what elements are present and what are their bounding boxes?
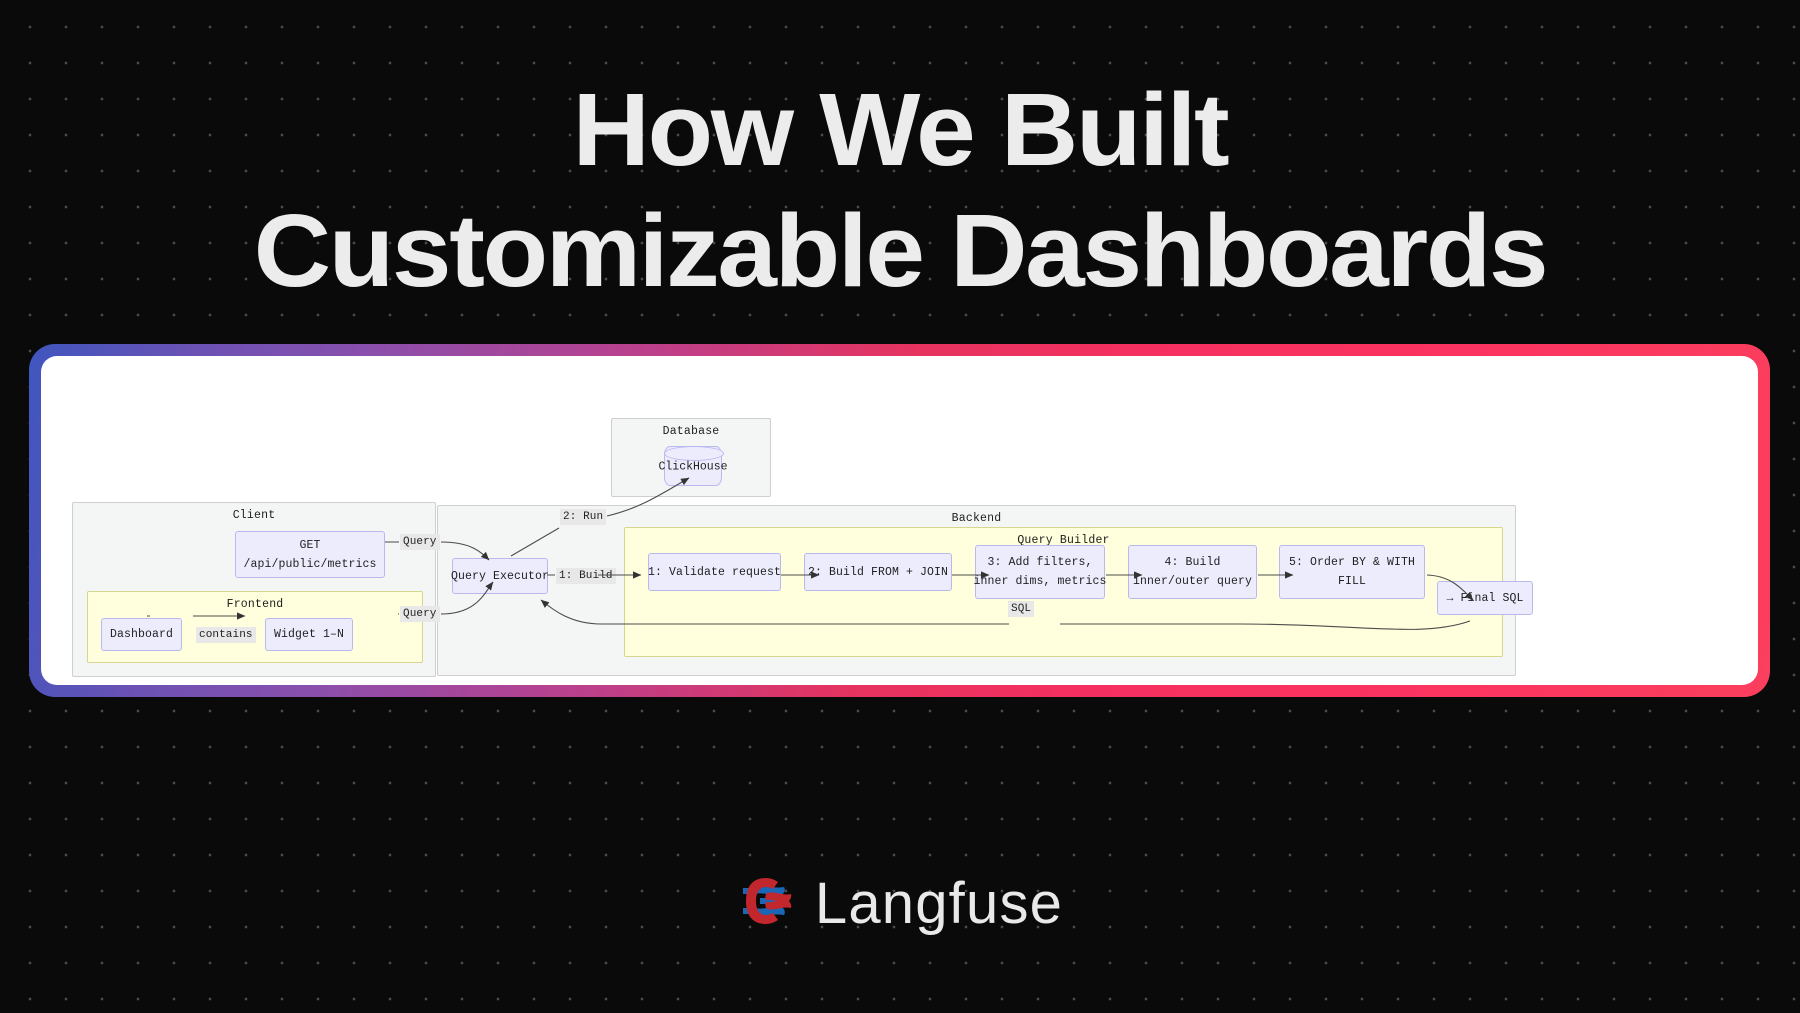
- node-step-3[interactable]: 3: Add filters, inner dims, metrics: [975, 545, 1105, 599]
- node-step-3-line-2: inner dims, metrics: [973, 572, 1106, 591]
- group-client: Client GET /api/public/metrics Frontend …: [72, 502, 436, 677]
- group-database: Database ClickHouse: [611, 418, 771, 497]
- node-final-sql[interactable]: → Final SQL: [1437, 581, 1533, 615]
- node-step-2[interactable]: 2: Build FROM + JOIN: [804, 553, 952, 591]
- group-frontend: Frontend Dashboard Widget 1–N contains: [87, 591, 423, 663]
- node-step-4[interactable]: 4: Build inner/outer query: [1128, 545, 1257, 599]
- edge-label-query-top: Query: [400, 534, 440, 550]
- page-title-line-1: How We Built: [0, 78, 1800, 181]
- architecture-diagram: Database ClickHouse Client GET /api/publ…: [41, 356, 1758, 685]
- node-step-2-line-1: 2: Build FROM + JOIN: [808, 563, 948, 582]
- node-query-executor-label: Query Executor: [451, 567, 549, 586]
- node-step-5-line-1: 5: Order BY & WITH: [1289, 553, 1415, 572]
- group-query-builder: Query Builder 1: Validate request 2: Bui…: [624, 527, 1503, 657]
- node-step-1[interactable]: 1: Validate request: [648, 553, 781, 591]
- node-widget[interactable]: Widget 1–N: [265, 618, 353, 651]
- node-step-3-line-1: 3: Add filters,: [987, 553, 1092, 572]
- node-step-1-line-1: 1: Validate request: [648, 563, 781, 582]
- group-backend: Backend Query Executor 2: Run 1: Build Q…: [437, 505, 1516, 676]
- edge-label-run: 2: Run: [560, 509, 606, 525]
- diagram-card: Database ClickHouse Client GET /api/publ…: [41, 356, 1758, 685]
- edge-label-sql: SQL: [1008, 601, 1034, 617]
- brand-name: Langfuse: [815, 870, 1063, 937]
- node-step-5-line-2: FILL: [1338, 572, 1366, 591]
- langfuse-logo-svg: [737, 875, 793, 927]
- edge-label-build: 1: Build: [556, 568, 616, 584]
- node-get-metrics-method: GET: [299, 536, 320, 555]
- node-dashboard-label: Dashboard: [110, 625, 173, 644]
- poster-canvas: How We Built Customizable Dashboards Dat…: [0, 0, 1800, 1013]
- node-query-executor[interactable]: Query Executor: [452, 558, 548, 594]
- page-title: How We Built Customizable Dashboards: [0, 78, 1800, 302]
- page-title-line-2: Customizable Dashboards: [0, 199, 1800, 302]
- diagram-card-gradient-frame: Database ClickHouse Client GET /api/publ…: [29, 344, 1770, 697]
- clickhouse-label: ClickHouse: [658, 461, 727, 474]
- node-get-metrics[interactable]: GET /api/public/metrics: [235, 531, 385, 578]
- node-step-4-line-2: inner/outer query: [1133, 572, 1252, 591]
- node-final-sql-label: → Final SQL: [1446, 589, 1523, 608]
- node-step-4-line-1: 4: Build: [1164, 553, 1220, 572]
- edge-label-query-bottom: Query: [400, 606, 440, 622]
- langfuse-logo-icon: [737, 875, 793, 932]
- node-dashboard[interactable]: Dashboard: [101, 618, 182, 651]
- edge-label-contains: contains: [196, 627, 256, 643]
- group-frontend-title: Frontend: [88, 598, 422, 612]
- brand-footer: Langfuse: [0, 870, 1800, 937]
- node-widget-label: Widget 1–N: [274, 625, 344, 644]
- node-step-5[interactable]: 5: Order BY & WITH FILL: [1279, 545, 1425, 599]
- node-get-metrics-path: /api/public/metrics: [243, 555, 376, 574]
- group-client-title: Client: [73, 509, 435, 523]
- group-database-title: Database: [612, 425, 770, 439]
